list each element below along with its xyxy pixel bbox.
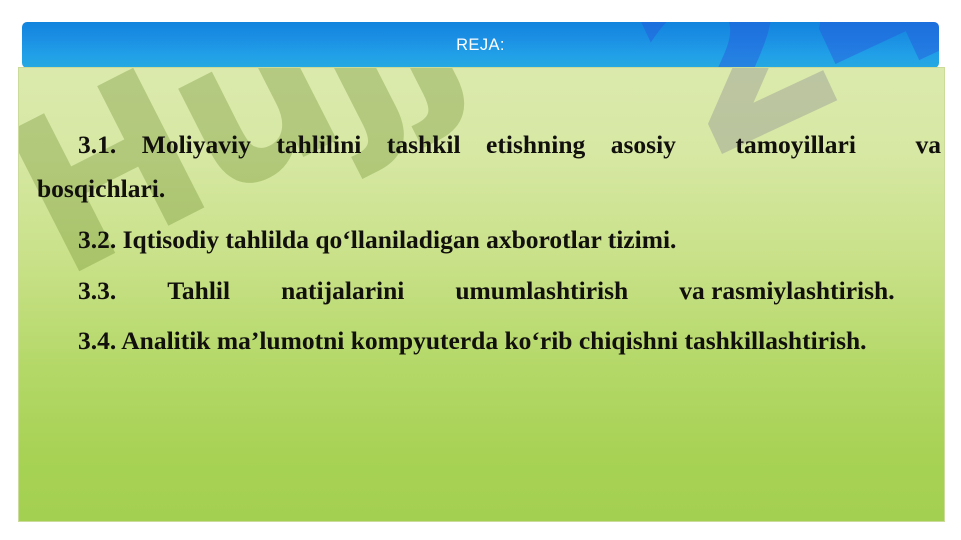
slide-title-band: 24 REJA: [22,22,939,68]
page-title: REJA: [22,22,939,68]
list-item: 3.2. Iqtisodiy tahlilda qo‘llaniladigan … [37,218,941,262]
list-item: 3.4. Analitik ma’lumotni kompyuterda ko‘… [37,319,941,363]
presentation-slide: 24 REJA: Hujjat 24 3.1. Moliyaviy tahlil… [0,0,961,540]
slide-content-panel: Hujjat 24 3.1. Moliyaviy tahlilini tashk… [18,67,945,522]
list-item: 3.3. Tahlil natijalarini umumlashtirish … [37,269,941,313]
list-item: 3.1. Moliyaviy tahlilini tashkil etishni… [37,123,941,211]
slide-body-text: 3.1. Moliyaviy tahlilini tashkil etishni… [37,123,941,363]
